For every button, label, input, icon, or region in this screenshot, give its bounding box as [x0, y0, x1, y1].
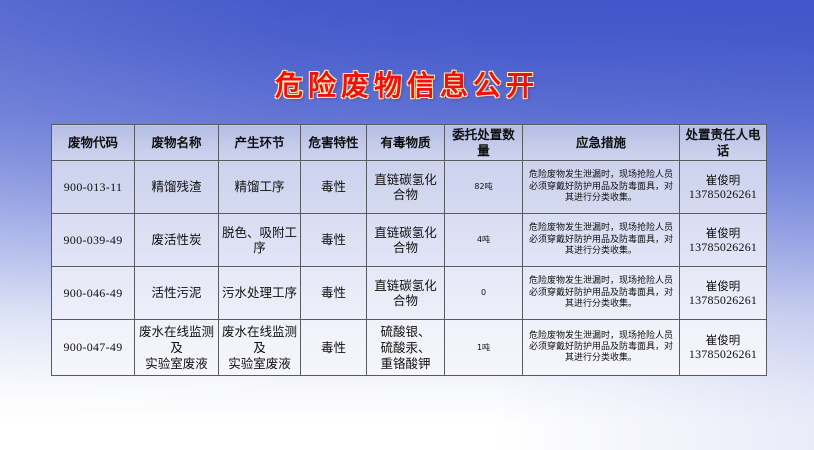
cell-hazard-property: 毒性 — [301, 320, 367, 376]
cell-waste-name: 活性污泥 — [135, 267, 219, 320]
cell-responsible-contact: 崔俊明13785026261 — [680, 320, 767, 376]
column-header-responsible-phone: 处置责任人电话 — [680, 125, 767, 161]
cell-waste-name: 废活性炭 — [135, 214, 219, 267]
cell-hazard-property: 毒性 — [301, 161, 367, 214]
cell-waste-code: 900-039-49 — [52, 214, 135, 267]
contact-phone: 13785026261 — [682, 293, 764, 308]
cell-generation-stage: 污水处理工序 — [219, 267, 301, 320]
table-body: 900-013-11精馏残渣精馏工序毒性直链碳氢化合物82吨危险废物发生泄漏时，… — [52, 161, 767, 376]
cell-hazard-property: 毒性 — [301, 214, 367, 267]
cell-emergency-measures: 危险废物发生泄漏时，现场抢险人员必须穿戴好防护用品及防毒面具，对其进行分类收集。 — [523, 161, 680, 214]
table-row: 900-046-49活性污泥污水处理工序毒性直链碳氢化合物0危险废物发生泄漏时，… — [52, 267, 767, 320]
cell-toxic-substance: 硫酸银、硫酸汞、重铬酸钾 — [367, 320, 445, 376]
table-row: 900-039-49废活性炭脱色、吸附工序毒性直链碳氢化合物4吨危险废物发生泄漏… — [52, 214, 767, 267]
cell-waste-code: 900-013-11 — [52, 161, 135, 214]
contact-name: 崔俊明 — [682, 333, 764, 347]
table-row: 900-047-49废水在线监测及实验室废液废水在线监测及实验室废液毒性硫酸银、… — [52, 320, 767, 376]
cell-waste-name: 废水在线监测及实验室废液 — [135, 320, 219, 376]
cell-disposal-quantity: 82吨 — [445, 161, 523, 214]
contact-phone: 13785026261 — [682, 240, 764, 255]
cell-generation-stage: 精馏工序 — [219, 161, 301, 214]
contact-name: 崔俊明 — [682, 173, 764, 187]
hazardous-waste-table-container: 废物代码 废物名称 产生环节 危害特性 有毒物质 委托处置数量 应急措施 处置责… — [51, 124, 766, 376]
cell-responsible-contact: 崔俊明13785026261 — [680, 267, 767, 320]
cell-disposal-quantity: 1吨 — [445, 320, 523, 376]
cell-waste-name: 精馏残渣 — [135, 161, 219, 214]
contact-name: 崔俊明 — [682, 226, 764, 240]
cell-hazard-property: 毒性 — [301, 267, 367, 320]
column-header-toxic-substance: 有毒物质 — [367, 125, 445, 161]
table-row: 900-013-11精馏残渣精馏工序毒性直链碳氢化合物82吨危险废物发生泄漏时，… — [52, 161, 767, 214]
column-header-waste-name: 废物名称 — [135, 125, 219, 161]
hazardous-waste-table: 废物代码 废物名称 产生环节 危害特性 有毒物质 委托处置数量 应急措施 处置责… — [51, 124, 767, 376]
column-header-disposal-quantity: 委托处置数量 — [445, 125, 523, 161]
column-header-waste-code: 废物代码 — [52, 125, 135, 161]
column-header-hazard-property: 危害特性 — [301, 125, 367, 161]
contact-name: 崔俊明 — [682, 279, 764, 293]
cell-emergency-measures: 危险废物发生泄漏时，现场抢险人员必须穿戴好防护用品及防毒面具，对其进行分类收集。 — [523, 320, 680, 376]
cell-toxic-substance: 直链碳氢化合物 — [367, 214, 445, 267]
cell-generation-stage: 废水在线监测及实验室废液 — [219, 320, 301, 376]
cell-waste-code: 900-046-49 — [52, 267, 135, 320]
cell-waste-code: 900-047-49 — [52, 320, 135, 376]
table-header-row: 废物代码 废物名称 产生环节 危害特性 有毒物质 委托处置数量 应急措施 处置责… — [52, 125, 767, 161]
contact-phone: 13785026261 — [682, 347, 764, 362]
cell-generation-stage: 脱色、吸附工序 — [219, 214, 301, 267]
page-title: 危险废物信息公开 — [0, 64, 814, 104]
cell-responsible-contact: 崔俊明13785026261 — [680, 161, 767, 214]
contact-phone: 13785026261 — [682, 187, 764, 202]
cell-disposal-quantity: 0 — [445, 267, 523, 320]
cell-emergency-measures: 危险废物发生泄漏时，现场抢险人员必须穿戴好防护用品及防毒面具，对其进行分类收集。 — [523, 214, 680, 267]
cell-toxic-substance: 直链碳氢化合物 — [367, 161, 445, 214]
cell-emergency-measures: 危险废物发生泄漏时，现场抢险人员必须穿戴好防护用品及防毒面具，对其进行分类收集。 — [523, 267, 680, 320]
slide-canvas: 危险废物信息公开 废物代码 废物名称 产生环节 危害特性 有毒物质 — [0, 0, 814, 450]
cell-disposal-quantity: 4吨 — [445, 214, 523, 267]
cell-toxic-substance: 直链碳氢化合物 — [367, 267, 445, 320]
cell-responsible-contact: 崔俊明13785026261 — [680, 214, 767, 267]
column-header-emergency-measures: 应急措施 — [523, 125, 680, 161]
column-header-generation-stage: 产生环节 — [219, 125, 301, 161]
